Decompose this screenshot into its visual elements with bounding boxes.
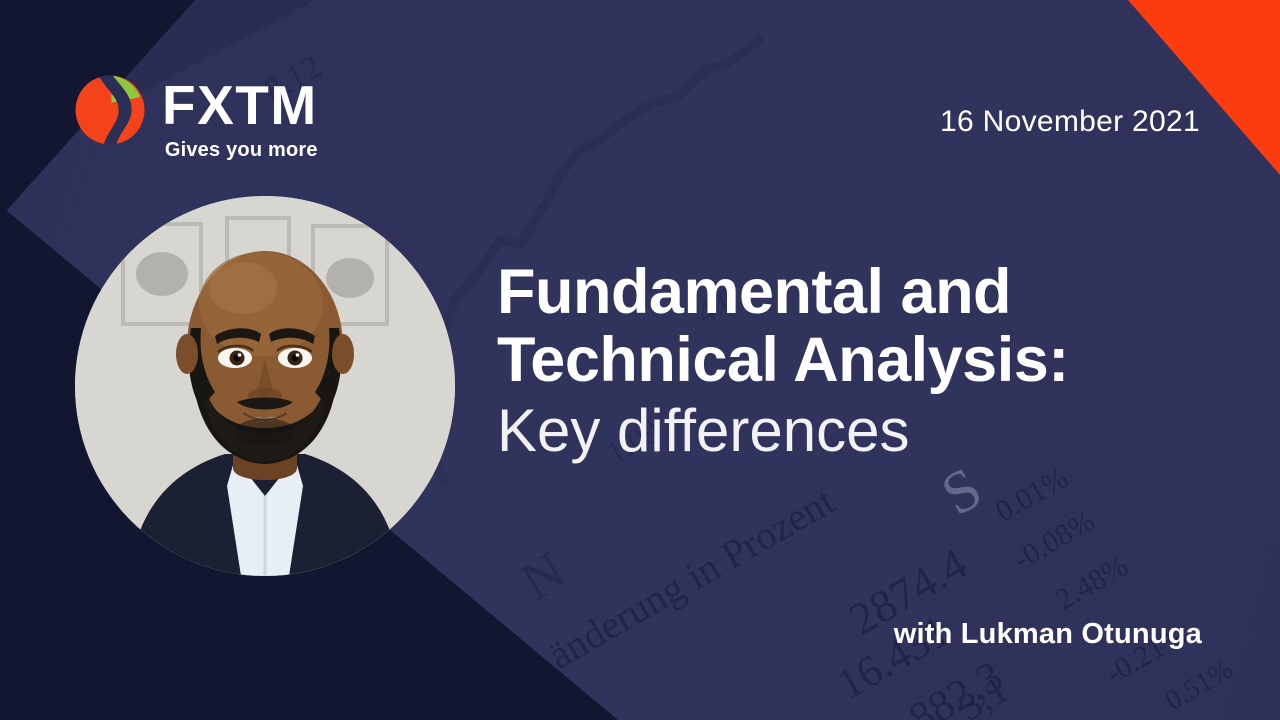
title-line-1: Fundamental and xyxy=(497,258,1217,326)
fxtm-logo-mark-icon xyxy=(74,74,146,146)
title-line-2: Technical Analysis: xyxy=(497,326,1217,394)
fxtm-tagline: Gives you more xyxy=(162,140,318,160)
fxtm-logo[interactable]: FXTM Gives you more xyxy=(74,74,318,160)
webinar-date: 16 November 2021 xyxy=(940,105,1200,139)
presenter-credit: with Lukman Otunuga xyxy=(894,618,1202,651)
presenter-avatar xyxy=(75,196,455,576)
slide-root: änderung in Prozent N S 2874.4 16.431 88… xyxy=(0,0,1280,720)
fxtm-logo-text: FXTM Gives you more xyxy=(162,74,318,160)
title-block: Fundamental and Technical Analysis: Key … xyxy=(497,258,1217,467)
title-subtitle: Key differences xyxy=(497,394,1217,467)
presenter-photo xyxy=(75,196,455,576)
fxtm-wordmark: FXTM xyxy=(162,78,318,133)
